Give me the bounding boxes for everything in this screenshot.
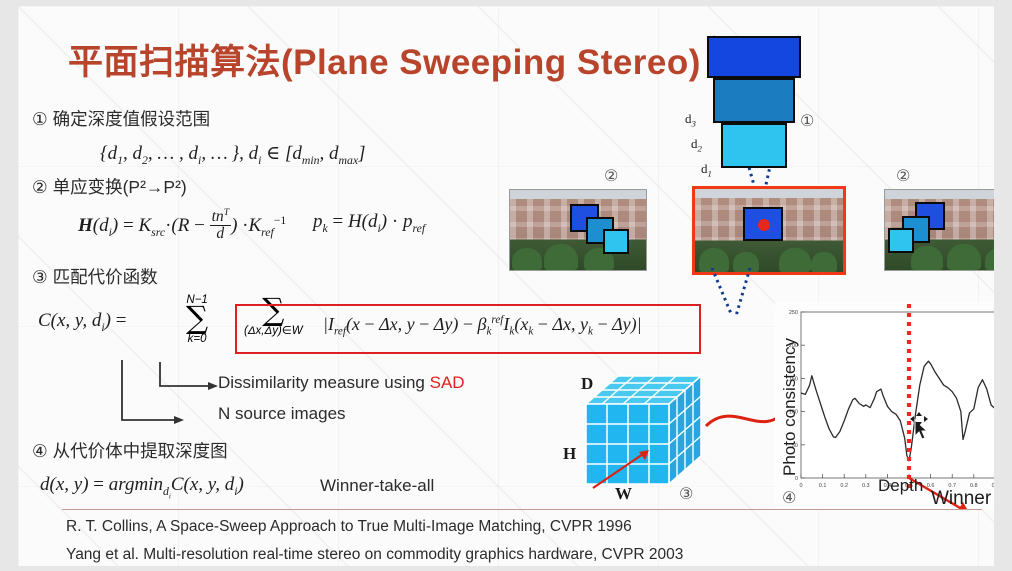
step-2: ② 单应变换(P²→P²) xyxy=(32,174,187,199)
step-4-number: ④ xyxy=(32,441,48,461)
marker-1: ① xyxy=(800,111,814,130)
page-title: 平面扫描算法(Plane Sweeping Stereo) xyxy=(68,34,701,85)
svg-text:0.3: 0.3 xyxy=(862,483,870,489)
reference-1: R. T. Collins, A Space-Sweep Approach to… xyxy=(66,518,632,536)
step-1-number: ① xyxy=(32,109,48,129)
formula-homography: H(di) = Ksrc·(R − tnTd) ·Kref−1 xyxy=(78,208,286,242)
step-3: ③ 匹配代价函数 xyxy=(32,264,158,289)
frustum-label-d2: d2 xyxy=(691,136,702,154)
sigma-icon: ∑ xyxy=(186,300,208,336)
shrub-icon xyxy=(911,246,943,270)
warped-patch-d1 xyxy=(603,229,629,254)
sweep-plane-d3 xyxy=(707,36,801,78)
svg-text:250: 250 xyxy=(789,310,798,316)
inner-summation: ∑ (Δx,Δy)∈W xyxy=(244,298,303,337)
shrub-icon xyxy=(947,244,981,270)
reference-point-dot xyxy=(758,219,770,231)
plane-sweep-frustum: d3 d2 d1 xyxy=(695,31,855,191)
formula-argmin: d(x, y) = argmindiC(x, y, di) xyxy=(40,474,244,500)
formula-depth-set: {d1, d2, … , di, … }, di ∈ [dmin, dmax] xyxy=(100,142,366,168)
winner-take-all-label: Winner-take-all xyxy=(320,476,434,496)
sweep-plane-d2 xyxy=(713,78,795,123)
slide-canvas: 平面扫描算法(Plane Sweeping Stereo) ① 确定深度值假设范… xyxy=(18,6,994,566)
dissimilarity-text: Dissimilarity measure using xyxy=(218,373,430,392)
step-4-label: 从代价体中提取深度图 xyxy=(53,441,228,461)
outer-summation: N−1 ∑ k=0 xyxy=(186,294,208,345)
svg-text:0.2: 0.2 xyxy=(840,483,848,489)
formula-cost-lhs: C(x, y, di) = xyxy=(38,310,126,335)
reference-view-image xyxy=(692,186,846,275)
sweep-plane-d1 xyxy=(721,123,787,168)
step-3-number: ③ xyxy=(32,267,48,287)
shrub-icon xyxy=(811,252,837,272)
step-3-label: 匹配代价函数 xyxy=(53,267,158,287)
step-4: ④ 从代价体中提取深度图 xyxy=(32,438,228,463)
marker-2-left: ② xyxy=(604,166,618,185)
step-2-label: 单应变换(P²→P²) xyxy=(53,177,187,197)
svg-text:0.1: 0.1 xyxy=(819,483,827,489)
svg-text:0.9: 0.9 xyxy=(992,483,994,489)
inner-sum-lower: (Δx,Δy)∈W xyxy=(244,325,303,337)
sad-label: SAD xyxy=(430,373,465,392)
cost-volume-cube: D H W xyxy=(553,364,713,504)
cube-label-depth: D xyxy=(581,374,593,394)
outer-sum-lower: k=0 xyxy=(186,333,208,345)
step-1-label: 确定深度值假设范围 xyxy=(53,109,211,129)
n-source-annotation: N source images xyxy=(218,404,346,424)
formula-point-map: pk = H(di) · pref xyxy=(313,211,425,236)
svg-text:0: 0 xyxy=(799,483,802,489)
winner-label: Winner xyxy=(931,488,991,510)
reference-2: Yang et al. Multi-resolution real-time s… xyxy=(66,546,683,564)
step-1: ① 确定深度值假设范围 xyxy=(32,106,210,131)
dissimilarity-annotation: Dissimilarity measure using SAD xyxy=(218,373,465,393)
marker-4: ④ xyxy=(782,488,796,507)
formula-cost-body: |Iref(x − Δx, y − Δy) − βkrefIk(xk − Δx,… xyxy=(323,314,642,338)
plot-y-axis-label: Photo consistency xyxy=(780,338,800,476)
warped-patch-d1 xyxy=(888,228,914,253)
marker-3: ③ xyxy=(679,484,693,503)
source-image-right xyxy=(884,189,994,271)
step-2-number: ② xyxy=(32,177,48,197)
plot-x-axis-label: Depth xyxy=(878,476,923,496)
svg-text:0: 0 xyxy=(795,476,798,482)
cube-label-width: W xyxy=(615,484,632,504)
footer-divider xyxy=(62,509,982,510)
sigma-icon: ∑ xyxy=(262,292,284,328)
cube-label-height: H xyxy=(563,444,576,464)
shrub-icon xyxy=(512,248,542,270)
lower-view-rays xyxy=(706,268,786,318)
cube-drawing xyxy=(553,364,713,504)
frustum-label-d1: d1 xyxy=(701,161,712,179)
frustum-label-d3: d3 xyxy=(685,111,696,129)
marker-2-right: ② xyxy=(896,166,910,185)
shrub-icon xyxy=(544,244,578,270)
source-image-left xyxy=(509,189,647,271)
